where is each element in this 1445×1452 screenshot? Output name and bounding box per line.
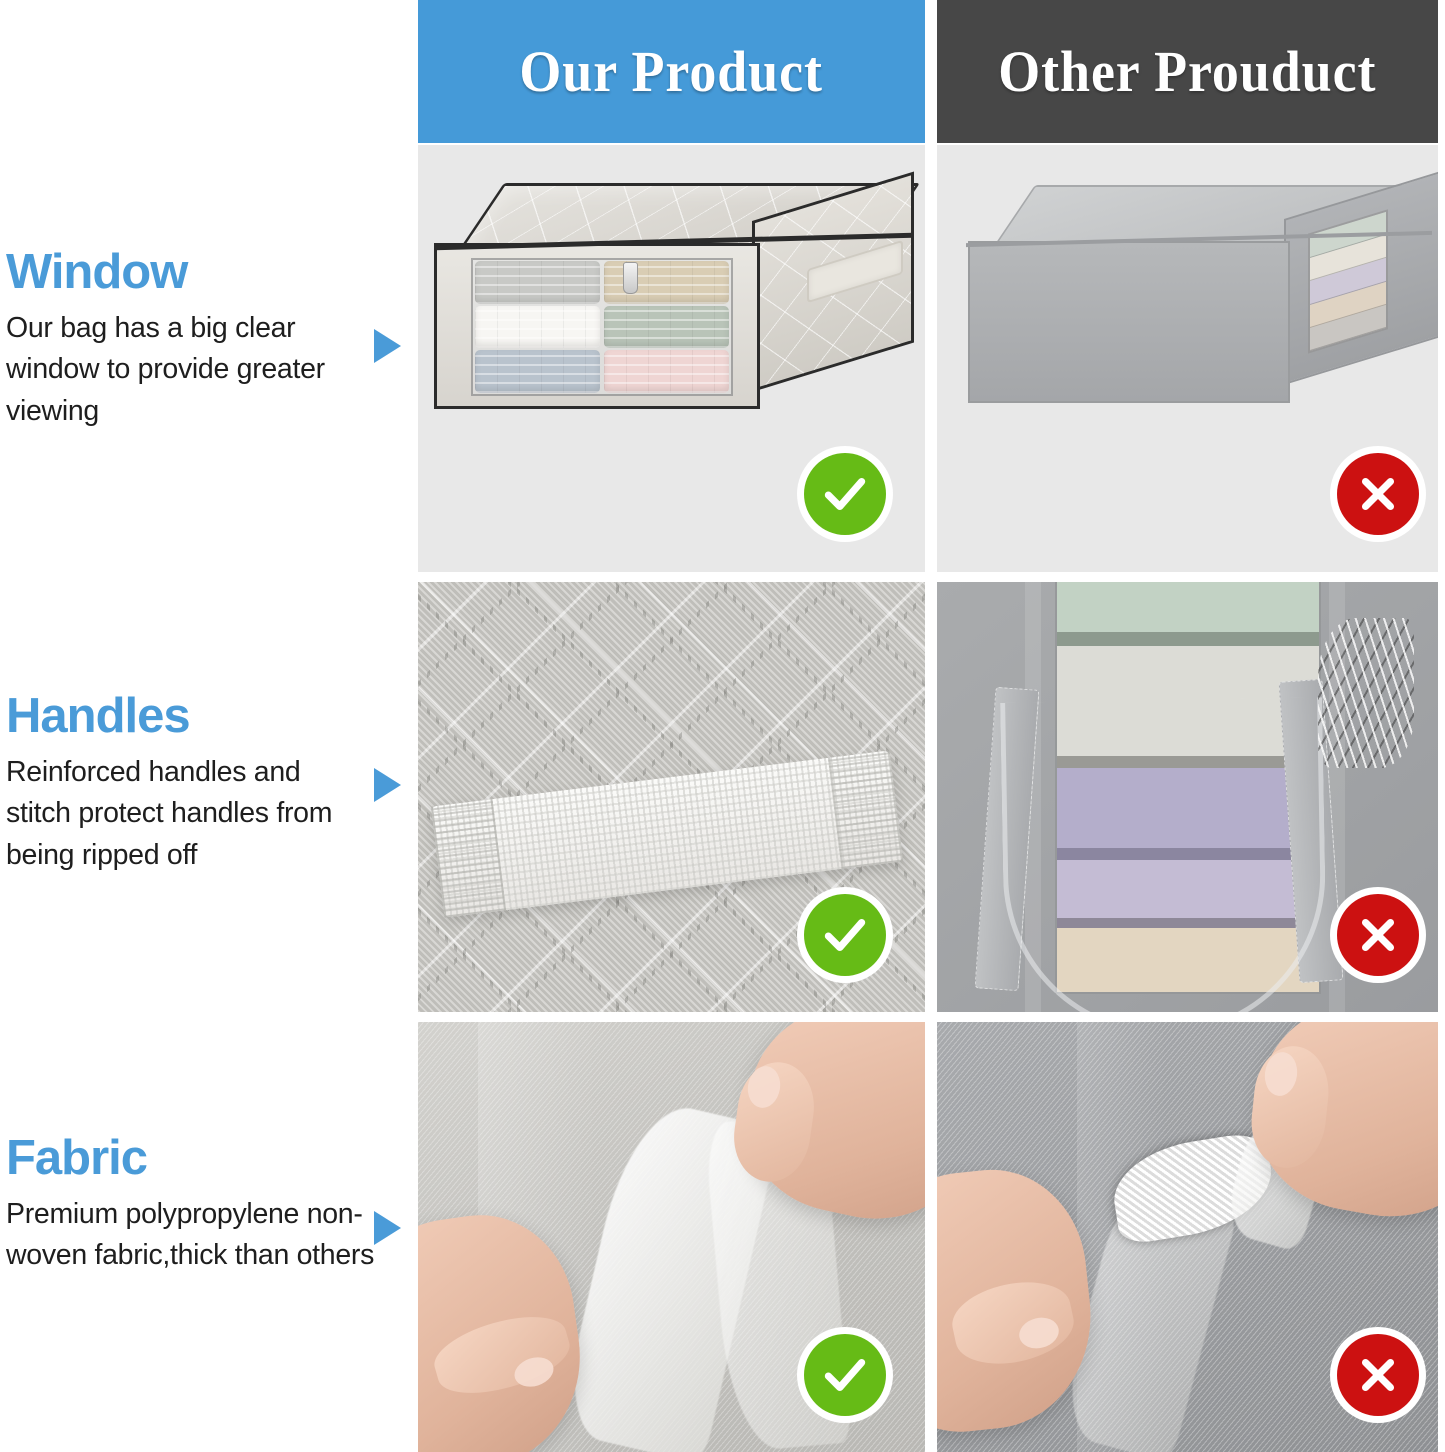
feature-block-handles: Handles Reinforced handles and stitch pr… — [6, 692, 416, 876]
other-bag-small-window — [1308, 209, 1388, 353]
our-storage-bag-illustration — [425, 183, 913, 413]
cross-icon — [1353, 469, 1403, 519]
column-header-other-product-label: Other Prouduct — [998, 38, 1376, 105]
pointer-arrow-icon-window — [374, 329, 401, 363]
photo-other-fabric — [937, 1022, 1438, 1452]
feature-description-fabric: Premium polypropylene non-woven fabric,t… — [6, 1194, 406, 1277]
feature-description-handles: Reinforced handles and stitch protect ha… — [6, 752, 368, 876]
product-comparison-infographic: Window Our bag has a big clear window to… — [0, 0, 1445, 1452]
verdict-badge-cross — [1337, 1334, 1419, 1416]
zipper-pull-icon — [623, 262, 638, 294]
verdict-badge-cross — [1337, 453, 1419, 535]
feature-block-window: Window Our bag has a big clear window to… — [6, 248, 416, 432]
other-storage-bag-illustration — [962, 185, 1432, 405]
column-header-other-product: Other Prouduct — [937, 0, 1438, 143]
check-icon — [820, 1350, 870, 1400]
photo-other-window — [937, 145, 1438, 572]
photo-our-window — [418, 145, 925, 572]
column-header-our-product-label: Our Product — [520, 38, 823, 105]
pointer-arrow-icon-fabric — [374, 1211, 401, 1245]
check-icon — [820, 469, 870, 519]
verdict-badge-cross — [1337, 894, 1419, 976]
cross-icon — [1353, 910, 1403, 960]
feature-title-fabric: Fabric — [6, 1134, 416, 1184]
column-header-our-product: Our Product — [418, 0, 925, 143]
other-bag-front-face — [968, 241, 1290, 403]
bag-front-face — [434, 243, 760, 409]
photo-our-handles — [418, 582, 925, 1012]
feature-block-fabric: Fabric Premium polypropylene non-woven f… — [6, 1134, 416, 1277]
check-icon — [820, 910, 870, 960]
verdict-badge-check — [804, 453, 886, 535]
verdict-badge-check — [804, 894, 886, 976]
cross-icon — [1353, 1350, 1403, 1400]
handle-loop — [1000, 697, 1328, 1012]
feature-description-window: Our bag has a big clear window to provid… — [6, 308, 368, 432]
bag-clear-window — [471, 258, 733, 396]
feature-title-handles: Handles — [6, 692, 416, 742]
verdict-badge-check — [804, 1334, 886, 1416]
feature-text-column: Window Our bag has a big clear window to… — [0, 0, 418, 1452]
feature-title-window: Window — [6, 248, 416, 298]
photo-other-handles — [937, 582, 1438, 1012]
pointer-arrow-icon-handles — [374, 768, 401, 802]
frayed-torn-stitch — [1318, 618, 1414, 768]
photo-our-fabric — [418, 1022, 925, 1452]
